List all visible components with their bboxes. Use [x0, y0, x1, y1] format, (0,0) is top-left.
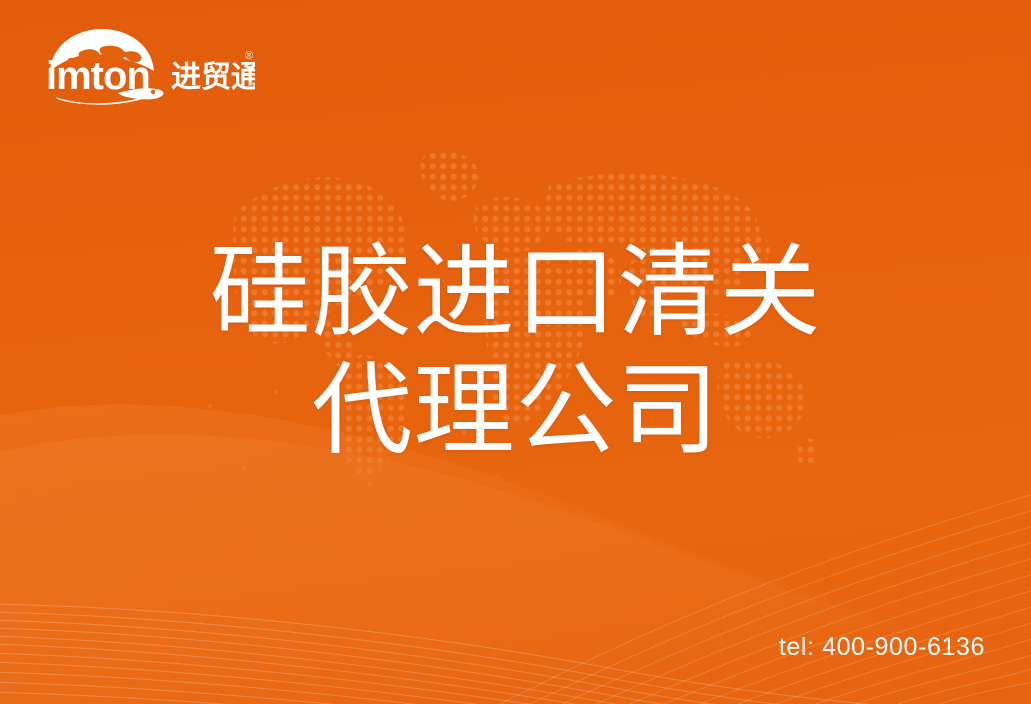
page-title: 硅胶进口清关 代理公司 [0, 234, 1031, 470]
brand-logo[interactable]: imton 进贸通 ® [40, 27, 255, 105]
contact-phone[interactable]: tel: 400-900-6136 [779, 633, 985, 662]
logo-latin-text: imton [46, 54, 150, 98]
page-title-line-1: 硅胶进口清关 [0, 234, 1031, 352]
logo-chinese-text: 进贸通 [171, 61, 255, 94]
registered-trademark-icon: ® [245, 50, 253, 62]
page-title-line-2: 代理公司 [0, 352, 1031, 470]
promo-banner: imton 进贸通 ® 硅胶进口清关 代理公司 tel: 400-900-613… [0, 0, 1031, 704]
logo-artwork: imton 进贸通 ® [40, 27, 255, 105]
